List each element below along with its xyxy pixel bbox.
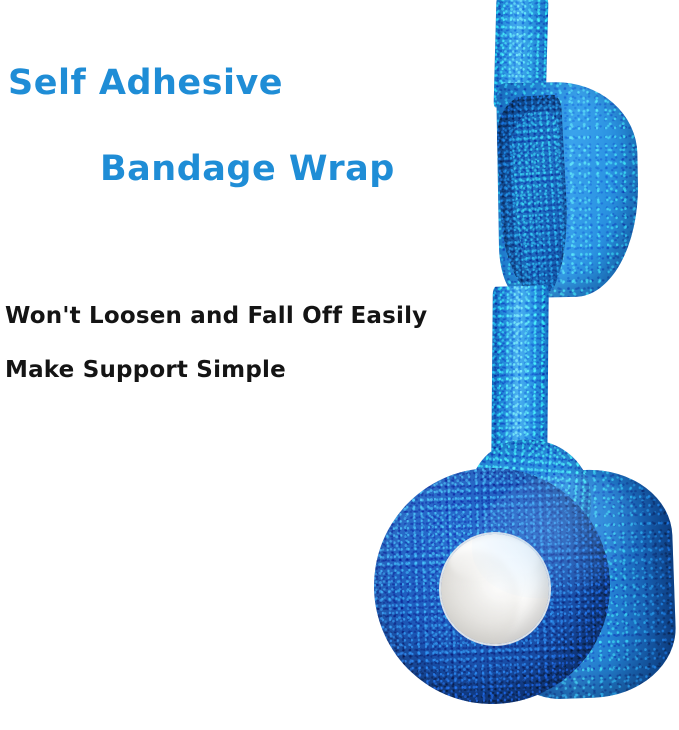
subheadline-line-2: Make Support Simple xyxy=(5,359,286,382)
subheadline-line-1: Won't Loosen and Fall Off Easily xyxy=(5,305,427,328)
product-marketing-image: Self Adhesive Bandage Wrap Won't Loosen … xyxy=(0,0,679,730)
headline-line-2: Bandage Wrap xyxy=(100,152,395,187)
headline-line-1: Self Adhesive xyxy=(8,66,283,101)
